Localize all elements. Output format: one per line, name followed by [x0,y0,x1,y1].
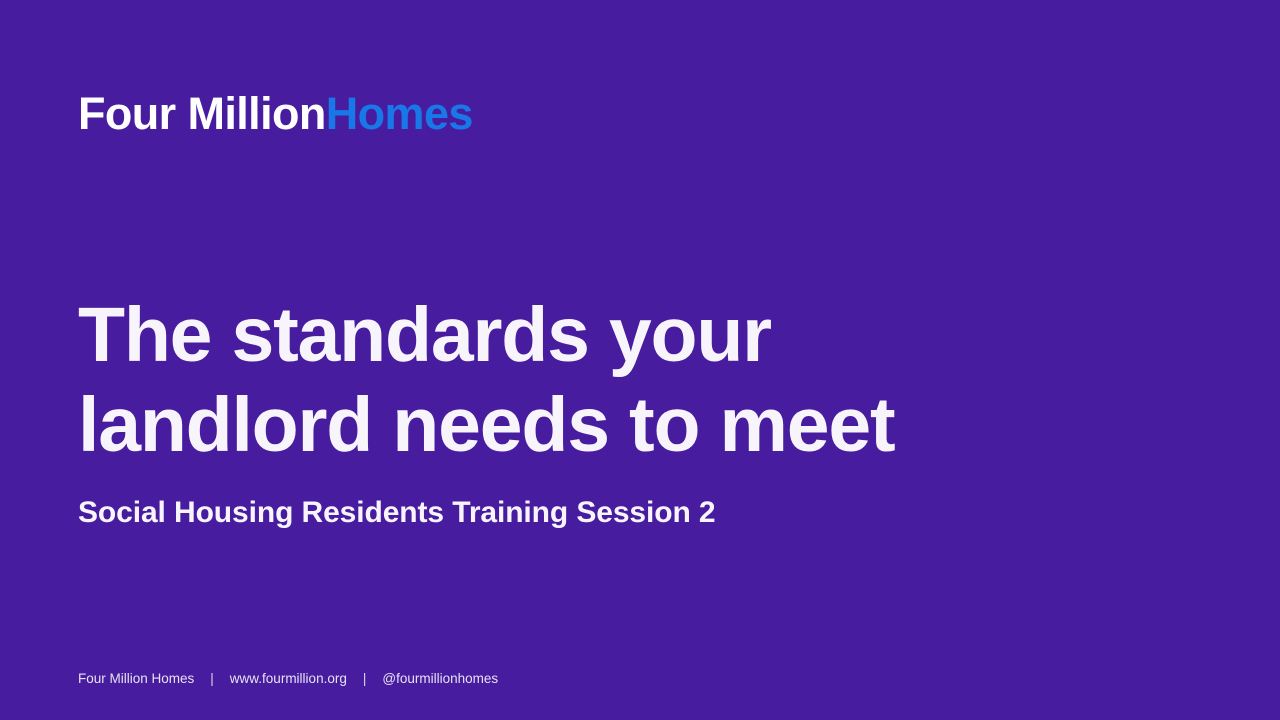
logo-primary-text: Four Million [78,88,326,139]
title-slide: Four MillionHomes The standards your lan… [0,0,1280,720]
footer-social-handle: @fourmillionhomes [382,669,498,689]
footer-separator-2: | [347,669,383,689]
brand-logo: Four MillionHomes [78,88,473,140]
slide-footer: Four Million Homes | www.fourmillion.org… [78,669,498,689]
slide-title-line-2: landlord needs to meet [78,380,1138,470]
slide-title-line-1: The standards your [78,290,1138,380]
footer-organisation: Four Million Homes [78,669,194,689]
footer-separator-1: | [194,669,230,689]
slide-title: The standards your landlord needs to mee… [78,290,1138,470]
footer-website: www.fourmillion.org [230,669,347,689]
slide-subtitle: Social Housing Residents Training Sessio… [78,494,716,532]
logo-accent-text: Homes [326,88,473,139]
